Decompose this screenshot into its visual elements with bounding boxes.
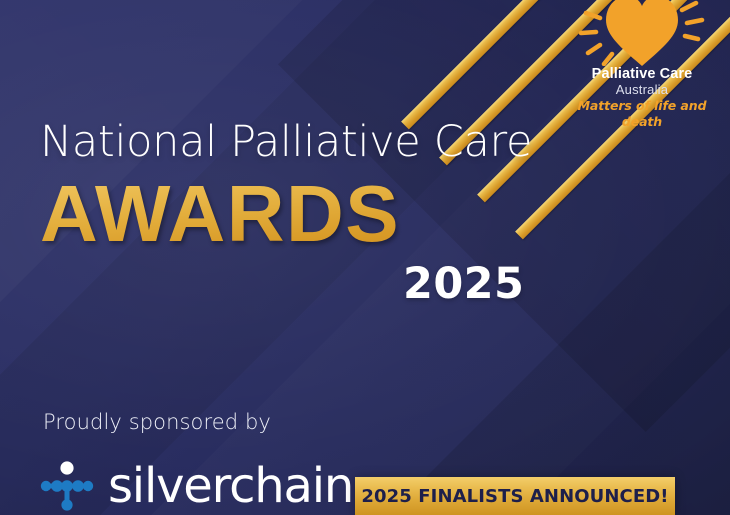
palliative-care-australia-logo: Palliative Care Australia Matters of lif…	[556, 0, 728, 130]
silverchain-node-icon	[38, 457, 96, 515]
awards-wordmark: AWARDS	[40, 168, 400, 260]
heart-icon	[556, 0, 728, 66]
silverchain-wordmark: silverchain	[108, 462, 353, 510]
logo-tagline: Matters of life and death	[556, 98, 728, 130]
finalists-banner-text: 2025 FINALISTS ANNOUNCED!	[361, 486, 668, 507]
logo-title-line-1: Palliative Care	[556, 66, 728, 82]
finalists-banner[interactable]: 2025 FINALISTS ANNOUNCED!	[355, 477, 675, 515]
logo-title-line-2: Australia	[556, 82, 728, 98]
awards-year: 2025	[403, 259, 524, 309]
page-title: National Palliative Care	[40, 117, 532, 167]
silverchain-logo: silverchain	[38, 457, 353, 515]
sponsor-label: Proudly sponsored by	[43, 410, 271, 434]
awards-poster: Palliative Care Australia Matters of lif…	[0, 0, 730, 515]
